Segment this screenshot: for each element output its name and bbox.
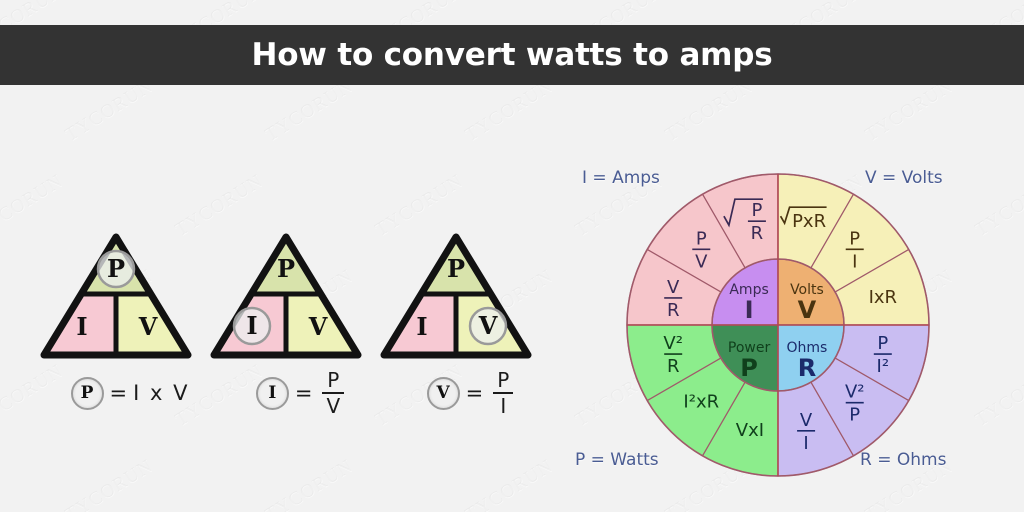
fraction-denominator: V [322, 394, 344, 416]
svg-text:I²: I² [877, 356, 890, 377]
wheel-formula-volts-2: IxR [869, 287, 897, 308]
equation-expression: I x V [133, 381, 189, 405]
equals-sign: = [295, 381, 313, 405]
triangle-left-letter: I [76, 312, 87, 341]
watermark-text: TYCORUN [662, 75, 757, 146]
wheel-label-amps: I = Amps [582, 168, 660, 188]
svg-text:I: I [852, 251, 857, 272]
svg-text:P: P [877, 333, 888, 354]
svg-text:R: R [667, 300, 680, 321]
svg-text:I: I [745, 296, 754, 324]
svg-text:P: P [751, 200, 762, 221]
svg-text:PxR: PxR [792, 211, 826, 232]
svg-text:R: R [798, 354, 816, 382]
ohms-law-wheel: PRPVVRAmpsIPxRPIIxRVoltsVVxII²xRV²RPower… [560, 150, 1024, 490]
svg-text:VxI: VxI [736, 420, 764, 441]
svg-text:R: R [667, 356, 680, 377]
svg-text:V²: V² [845, 382, 865, 403]
triangle-top-letter: P [277, 254, 295, 283]
equation-symbol: P [71, 377, 104, 410]
equals-sign: = [466, 381, 484, 405]
watermark-text: TYCORUN [462, 455, 557, 512]
svg-text:V: V [800, 410, 813, 431]
triangle-top-letter: P [107, 254, 125, 283]
svg-text:P: P [696, 228, 707, 249]
triangle-left-letter: I [416, 312, 427, 341]
equation-symbol: V [427, 377, 460, 410]
svg-text:R: R [751, 223, 764, 244]
svg-text:V²: V² [663, 333, 683, 354]
voltage-equation: V = P I [380, 365, 560, 421]
ohms-law-wheel-svg: PRPVVRAmpsIPxRPIIxRVoltsVVxII²xRV²RPower… [560, 150, 1024, 490]
page-root: TYCORUNTYCORUNTYCORUNTYCORUNTYCORUNTYCOR… [0, 0, 1024, 512]
watermark-text: TYCORUN [262, 75, 357, 146]
voltage-triangle-svg: P I V [380, 215, 560, 375]
triangle-right-letter: V [308, 312, 328, 341]
watermark-text: TYCORUN [462, 75, 557, 146]
equals-sign: = [110, 381, 128, 405]
equation-fraction: P I [493, 370, 513, 416]
fraction-numerator: P [493, 370, 513, 392]
fraction-numerator: P [323, 370, 343, 392]
wheel-label-volts: V = Volts [865, 168, 943, 188]
triangle-left-letter: I [246, 311, 257, 340]
triangle-top-letter: P [447, 254, 465, 283]
power-triangle-block: P I V P = I x V [40, 215, 220, 425]
svg-text:P: P [849, 228, 860, 249]
svg-text:I: I [803, 433, 808, 454]
current-equation: I = P V [210, 365, 390, 421]
watermark-text: TYCORUN [862, 75, 957, 146]
power-triangle-svg: P I V [40, 215, 220, 375]
header-bar: How to convert watts to amps [0, 25, 1024, 85]
svg-text:P: P [740, 354, 758, 382]
voltage-triangle-block: P I V V = P I [380, 215, 560, 425]
svg-text:V: V [798, 296, 817, 324]
equation-symbol: I [256, 377, 289, 410]
triangle-diagrams: P I V P = I x V [40, 215, 580, 425]
svg-text:P: P [849, 405, 860, 426]
svg-text:IxR: IxR [869, 287, 897, 308]
watermark-text: TYCORUN [62, 75, 157, 146]
triangle-right-letter: V [478, 311, 498, 340]
current-triangle-svg: P I V [210, 215, 390, 375]
watermark-text: TYCORUN [62, 455, 157, 512]
wheel-formula-watts-0: VxI [736, 420, 764, 441]
page-title: How to convert watts to amps [251, 37, 772, 73]
svg-text:V: V [695, 251, 708, 272]
current-triangle-block: P I V I = P V [210, 215, 390, 425]
equation-fraction: P V [322, 370, 344, 416]
wheel-label-ohms: R = Ohms [860, 450, 946, 470]
triangle-right-letter: V [138, 312, 158, 341]
power-equation: P = I x V [40, 365, 220, 421]
watermark-text: TYCORUN [262, 455, 357, 512]
fraction-denominator: I [496, 394, 510, 416]
svg-text:V: V [667, 277, 680, 298]
wheel-label-watts: P = Watts [575, 450, 659, 470]
wheel-formula-watts-1: I²xR [683, 392, 719, 413]
svg-text:I²xR: I²xR [683, 392, 719, 413]
